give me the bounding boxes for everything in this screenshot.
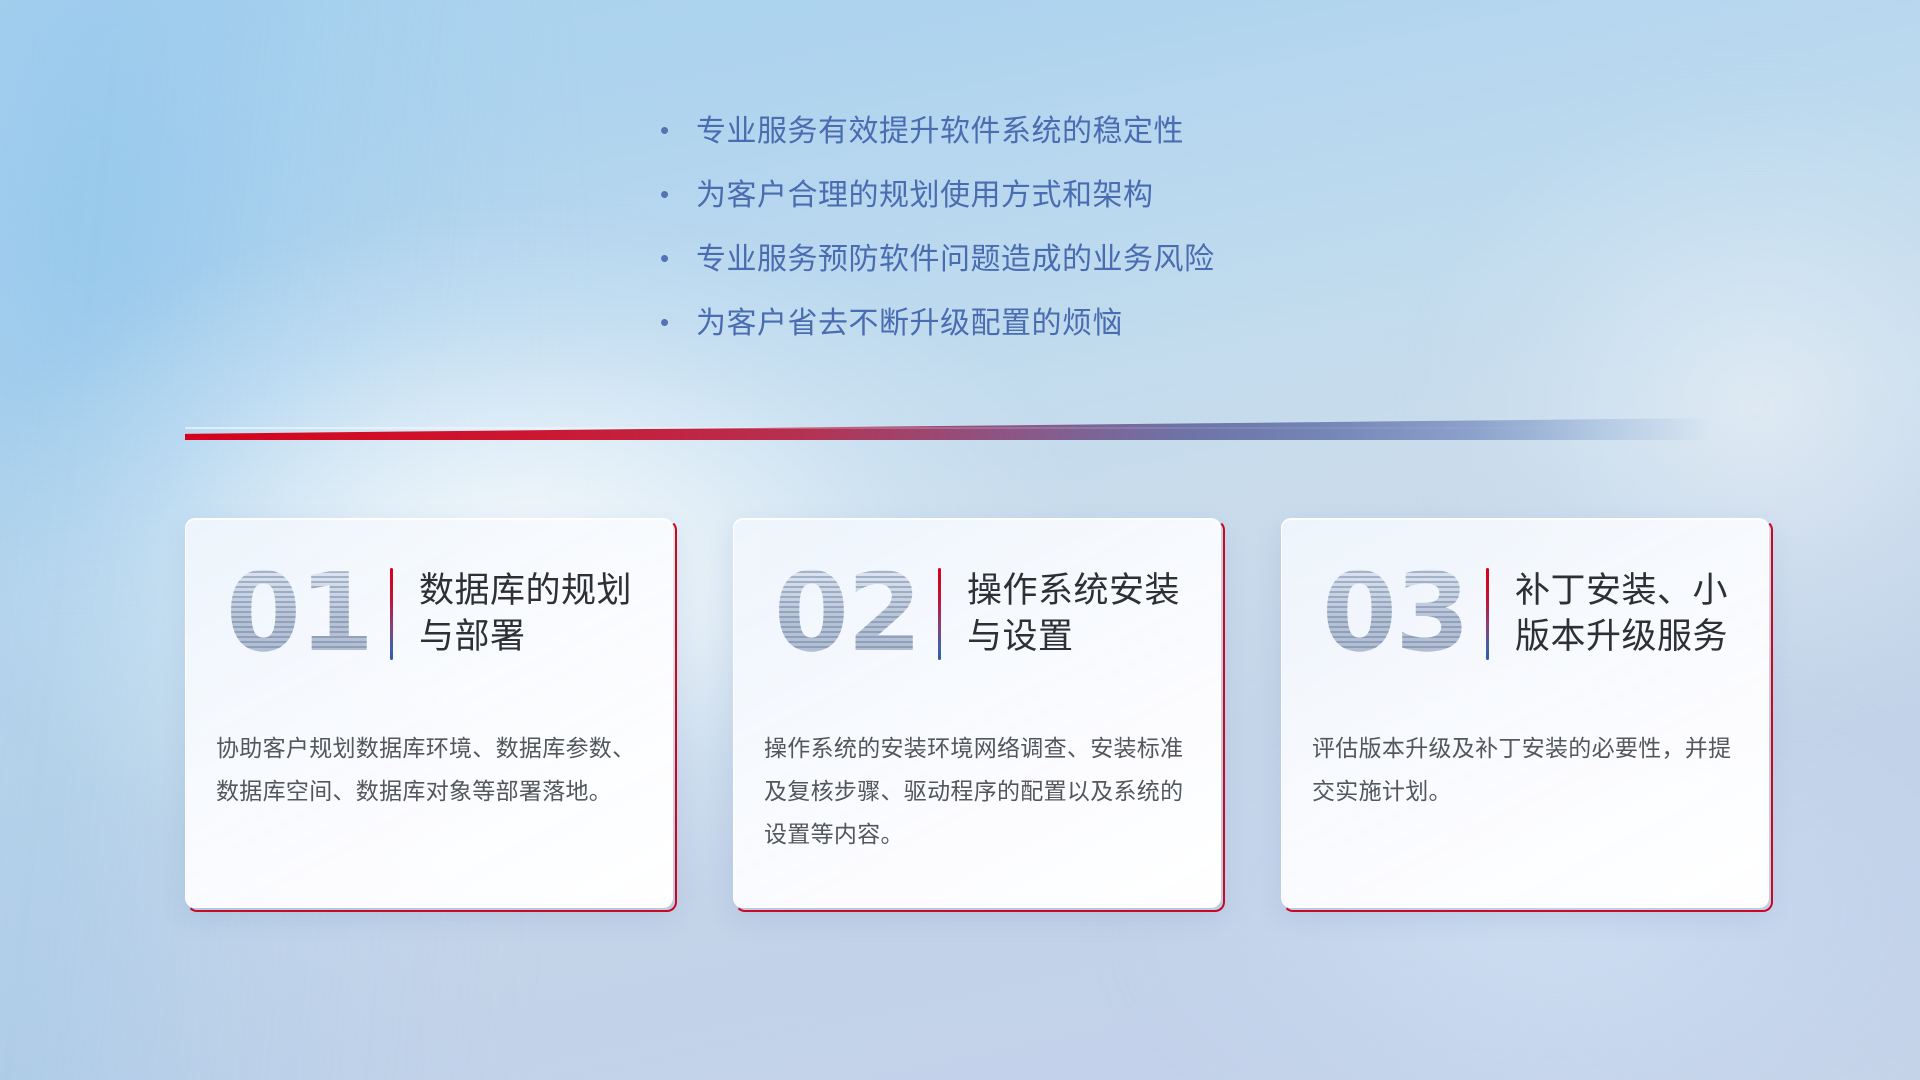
card-title: 补丁安装、小版本升级服务: [1515, 568, 1768, 660]
card-surface: 01 数据库的规划与部署 协助客户规划数据库环境、数据库参数、数据库空间、数据库…: [185, 518, 673, 908]
card-description: 协助客户规划数据库环境、数据库参数、数据库空间、数据库对象等部署落地。: [216, 727, 644, 813]
bullet-dot-icon: •: [660, 117, 696, 143]
card-divider-bar: [1486, 568, 1489, 660]
card-surface: 03 补丁安装、小版本升级服务 评估版本升级及补丁安装的必要性，并提交实施计划。: [1281, 518, 1769, 908]
bullet-item-text: 为客户省去不断升级配置的烦恼: [696, 298, 1123, 342]
card-description: 操作系统的安装环境网络调查、安装标准及复核步骤、驱动程序的配置以及系统的设置等内…: [764, 727, 1192, 855]
section-divider: [185, 418, 1713, 440]
card-header: 02 操作系统安装与设置: [734, 519, 1220, 709]
card-number: 03: [1310, 560, 1480, 668]
card-header: 01 数据库的规划与部署: [186, 519, 672, 709]
service-card[interactable]: 02 操作系统安装与设置 操作系统的安装环境网络调查、安装标准及复核步骤、驱动程…: [733, 518, 1225, 912]
card-header: 03 补丁安装、小版本升级服务: [1282, 519, 1768, 709]
bullet-item-text: 专业服务有效提升软件系统的稳定性: [696, 106, 1184, 150]
service-card[interactable]: 03 补丁安装、小版本升级服务 评估版本升级及补丁安装的必要性，并提交实施计划。: [1281, 518, 1773, 912]
card-title: 数据库的规划与部署: [419, 568, 672, 660]
divider-highlight: [185, 427, 1713, 429]
card-description: 评估版本升级及补丁安装的必要性，并提交实施计划。: [1312, 727, 1740, 813]
bullet-dot-icon: •: [660, 181, 696, 207]
bullet-item-text: 专业服务预防软件问题造成的业务风险: [696, 234, 1215, 278]
service-card[interactable]: 01 数据库的规划与部署 协助客户规划数据库环境、数据库参数、数据库空间、数据库…: [185, 518, 677, 912]
divider-gradient-bar: [185, 418, 1713, 440]
bullet-item: • 为客户合理的规划使用方式和架构: [660, 170, 1215, 234]
bullet-item: • 为客户省去不断升级配置的烦恼: [660, 298, 1215, 362]
card-surface: 02 操作系统安装与设置 操作系统的安装环境网络调查、安装标准及复核步骤、驱动程…: [733, 518, 1221, 908]
card-number: 02: [762, 560, 932, 668]
card-divider-bar: [938, 568, 941, 660]
bullet-dot-icon: •: [660, 245, 696, 271]
bullet-item-text: 为客户合理的规划使用方式和架构: [696, 170, 1154, 214]
service-card-list: 01 数据库的规划与部署 协助客户规划数据库环境、数据库参数、数据库空间、数据库…: [185, 518, 1773, 912]
card-number: 01: [214, 560, 384, 668]
benefits-bullet-list: • 专业服务有效提升软件系统的稳定性 • 为客户合理的规划使用方式和架构 • 专…: [660, 106, 1215, 362]
bullet-dot-icon: •: [660, 309, 696, 335]
card-divider-bar: [390, 568, 393, 660]
bullet-item: • 专业服务预防软件问题造成的业务风险: [660, 234, 1215, 298]
bullet-item: • 专业服务有效提升软件系统的稳定性: [660, 106, 1215, 170]
card-title: 操作系统安装与设置: [967, 568, 1220, 660]
